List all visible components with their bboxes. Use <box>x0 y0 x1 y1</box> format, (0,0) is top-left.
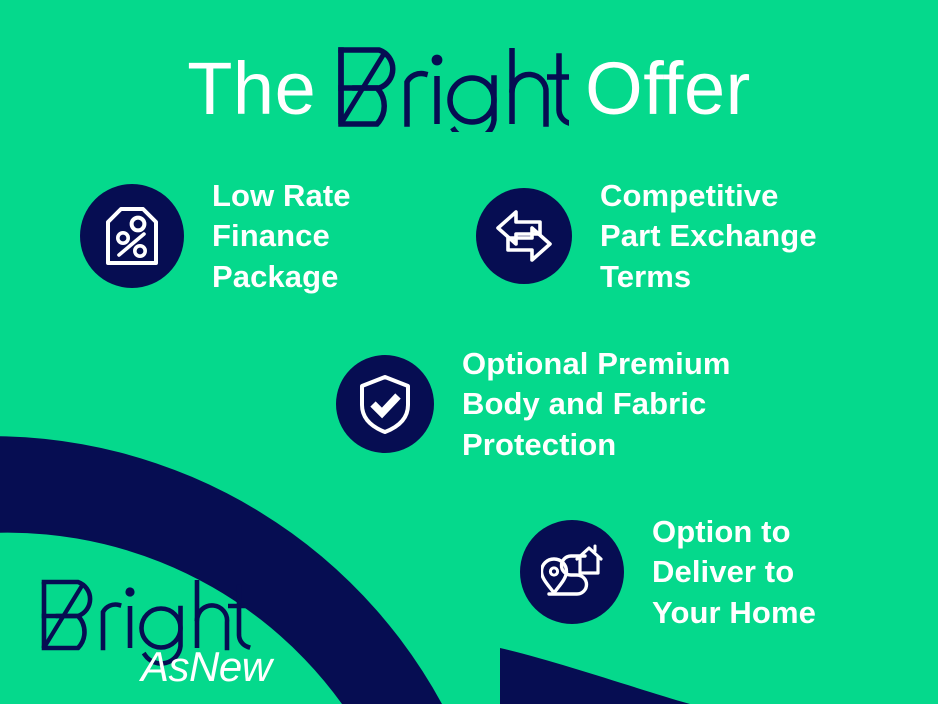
feature-part-exchange: Competitive Part Exchange Terms <box>476 176 817 297</box>
promo-graphic: The <box>0 0 938 704</box>
feature-label: Option to Deliver to Your Home <box>652 512 816 633</box>
brightasnew-logo: AsNew <box>38 578 298 688</box>
logo-asnew-word: AsNew <box>138 643 275 688</box>
feature-home-delivery: Option to Deliver to Your Home <box>520 512 816 633</box>
price-tag-percent-icon <box>80 184 184 288</box>
map-pin-route-house-icon <box>520 520 624 624</box>
exchange-arrows-icon <box>476 188 572 284</box>
feature-low-rate-finance: Low Rate Finance Package <box>80 176 351 297</box>
feature-label: Optional Premium Body and Fabric Protect… <box>462 344 731 465</box>
navy-wedge-shape <box>500 648 690 704</box>
feature-label: Low Rate Finance Package <box>212 176 351 297</box>
headline-prefix: The <box>187 47 316 130</box>
headline-suffix: Offer <box>585 47 751 130</box>
feature-premium-protection: Optional Premium Body and Fabric Protect… <box>336 344 731 465</box>
shield-check-icon <box>336 355 434 453</box>
bright-wordmark-logo <box>333 46 569 136</box>
page-title: The <box>0 44 938 134</box>
feature-label: Competitive Part Exchange Terms <box>600 176 817 297</box>
